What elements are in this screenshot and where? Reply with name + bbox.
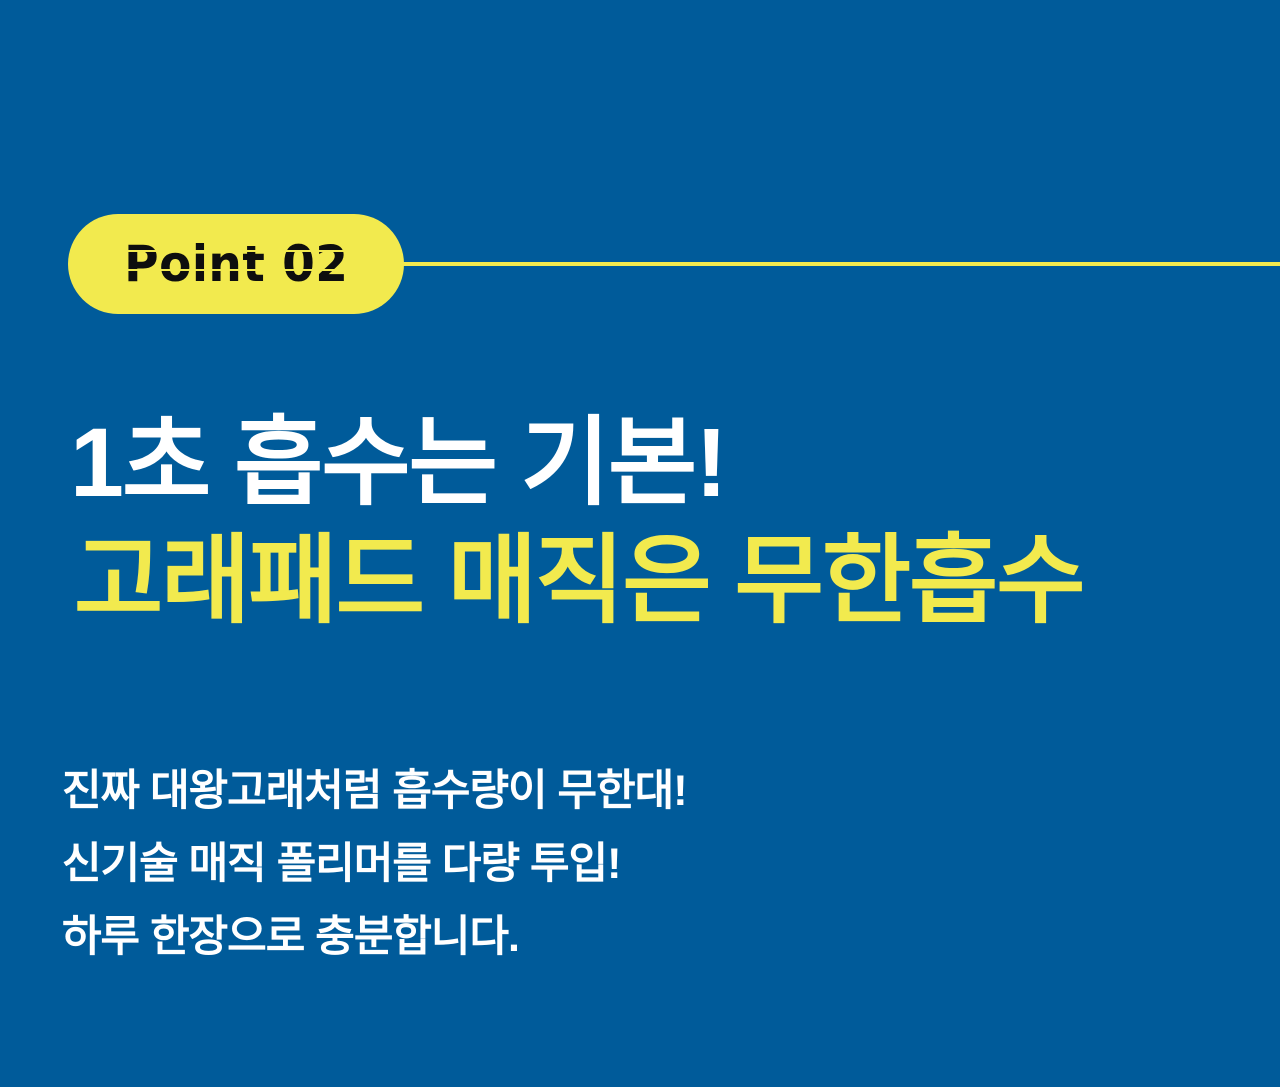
body-copy: 진짜 대왕고래처럼 흡수량이 무한대! 신기술 매직 폴리머를 다량 투입! 하… <box>62 755 1162 974</box>
body-line: 진짜 대왕고래처럼 흡수량이 무한대! <box>62 755 1162 828</box>
headline-line-primary: 1초 흡수는 기본! <box>70 404 1250 522</box>
point-badge: Point 02 <box>68 214 404 314</box>
headline-line-accent: 고래패드 매직은 무한흡수 <box>70 522 1250 640</box>
point-badge-label: Point 02 <box>124 239 348 289</box>
point-badge-row: Point 02 <box>0 214 1280 314</box>
body-line: 신기술 매직 폴리머를 다량 투입! <box>62 828 1162 901</box>
promo-banner: Point 02 1초 흡수는 기본! 고래패드 매직은 무한흡수 진짜 대왕고… <box>0 0 1280 1087</box>
body-line: 하루 한장으로 충분합니다. <box>62 901 1162 974</box>
badge-divider-line <box>330 262 1280 266</box>
headline: 1초 흡수는 기본! 고래패드 매직은 무한흡수 <box>70 404 1250 640</box>
